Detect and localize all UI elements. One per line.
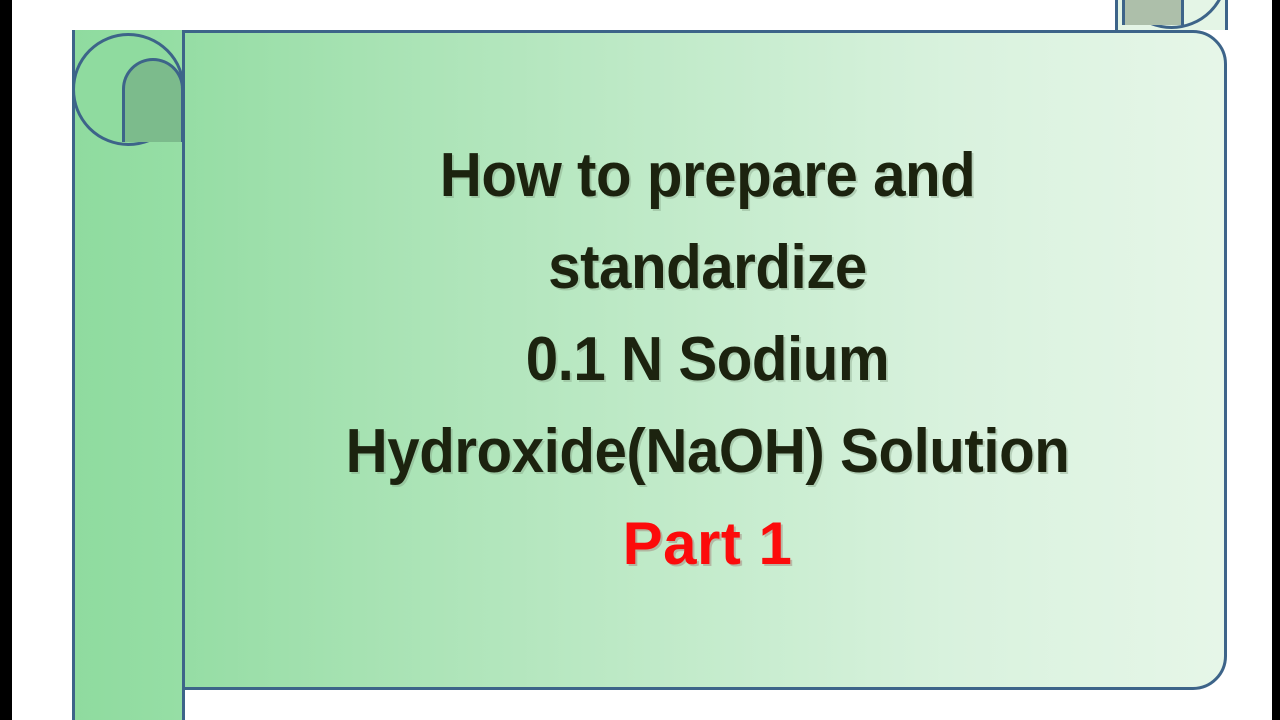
presentation-slide: How to prepare and standardize 0.1 N Sod… (0, 0, 1280, 720)
letterbox-right (1272, 0, 1280, 720)
scroll-curl-right-inner (1122, 0, 1184, 25)
scroll-curl-left-icon (72, 33, 185, 146)
title-line-1: How to prepare and (221, 130, 1194, 222)
letterbox-left (0, 0, 12, 720)
title-line-2: standardize (221, 222, 1194, 314)
title-block: How to prepare and standardize 0.1 N Sod… (190, 130, 1225, 590)
title-line-4: Hydroxide(NaOH) Solution (221, 406, 1194, 498)
part-label: Part 1 (190, 498, 1225, 590)
title-line-3: 0.1 N Sodium (221, 314, 1194, 406)
scroll-curl-left-inner (122, 58, 184, 142)
